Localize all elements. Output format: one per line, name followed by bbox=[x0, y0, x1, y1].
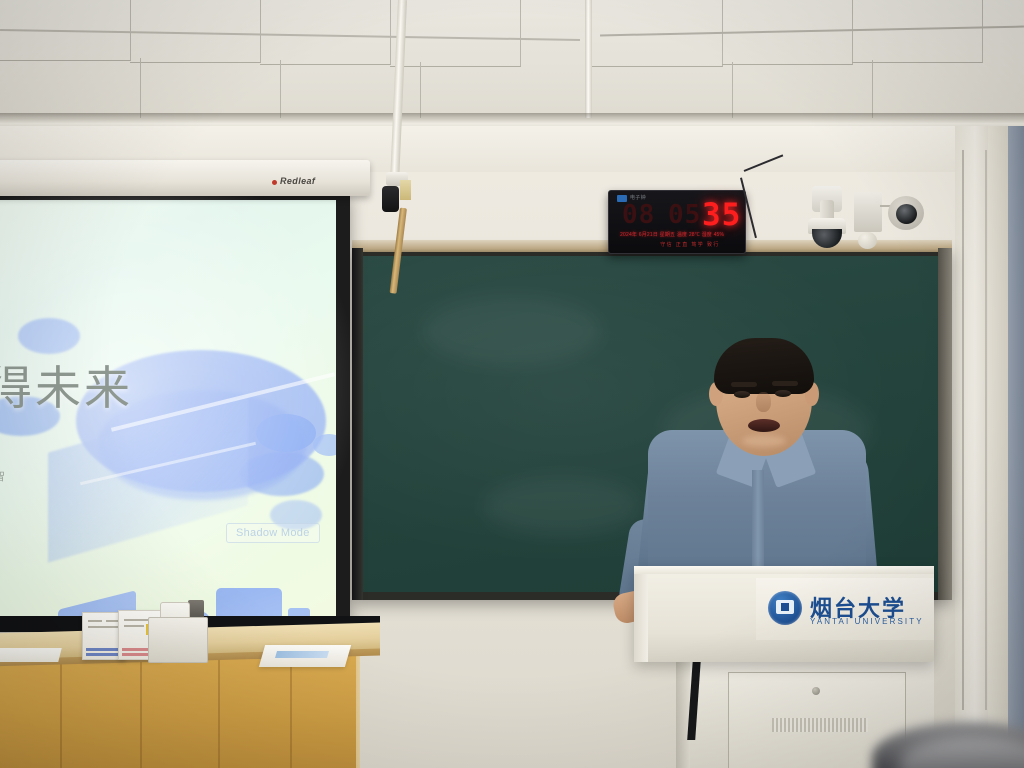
wall-seam-line-2 bbox=[985, 150, 987, 710]
wall-seam-line-1 bbox=[962, 150, 964, 710]
clock-hours: 08 bbox=[622, 200, 655, 230]
card-line bbox=[88, 620, 102, 622]
card-accent-blue bbox=[86, 653, 120, 656]
ceiling-seam bbox=[585, 0, 592, 122]
slide-headline: 得未来 bbox=[0, 352, 133, 418]
junction-box bbox=[854, 192, 882, 232]
podium-vent bbox=[772, 718, 868, 732]
card-accent-blue bbox=[86, 648, 120, 651]
conduit-connector bbox=[382, 186, 399, 212]
projector-brand-label: Redleaf bbox=[280, 176, 315, 186]
conduit-tag bbox=[400, 180, 411, 200]
person-shirt-placket bbox=[752, 470, 764, 574]
podium-top-edge bbox=[634, 566, 934, 574]
clock-seconds: 35 bbox=[702, 197, 741, 233]
lock-icon[interactable] bbox=[812, 687, 820, 695]
document-blue-band bbox=[275, 651, 329, 658]
person-brow-right bbox=[772, 381, 798, 386]
podium-side-gap bbox=[676, 660, 690, 768]
cable-ball bbox=[858, 232, 877, 249]
speaker-dome-lens-icon bbox=[896, 204, 917, 224]
person-eye-left bbox=[734, 391, 750, 398]
person-brow-left bbox=[731, 382, 757, 387]
documents-left[interactable] bbox=[0, 648, 62, 662]
card-holder[interactable] bbox=[148, 617, 208, 663]
slide-subtext: 智 bbox=[0, 468, 5, 484]
person-mouth bbox=[748, 419, 780, 432]
card-line bbox=[88, 626, 118, 628]
university-name-en: YANTAI UNIVERSITY bbox=[810, 617, 924, 626]
person-nose bbox=[756, 392, 771, 412]
clock-minutes: 05 bbox=[668, 200, 701, 230]
wall-right-column-inner bbox=[988, 126, 1010, 768]
clock-motto-line: 守信 正直 笃学 致行 bbox=[642, 241, 738, 248]
desk-front-panel bbox=[0, 656, 356, 768]
ceiling bbox=[0, 0, 1024, 128]
shadow-mode-button[interactable]: Shadow Mode bbox=[226, 523, 320, 543]
blackboard-right-edge bbox=[938, 248, 952, 600]
person-eye-right bbox=[775, 390, 791, 397]
window-edge bbox=[1008, 126, 1024, 768]
clock-info-line: 2024年 6月21日 星期五 温度 28℃ 湿度 45% bbox=[620, 231, 738, 238]
card-line bbox=[124, 625, 144, 627]
redleaf-logo-icon bbox=[272, 180, 277, 185]
person-chin-highlight bbox=[742, 435, 786, 447]
classroom-photo: 电子钟 08 05 35 2024年 6月21日 星期五 温度 28℃ 湿度 4… bbox=[0, 0, 1024, 768]
logo-inner-core bbox=[781, 603, 789, 611]
podium-left-panel bbox=[634, 574, 648, 662]
